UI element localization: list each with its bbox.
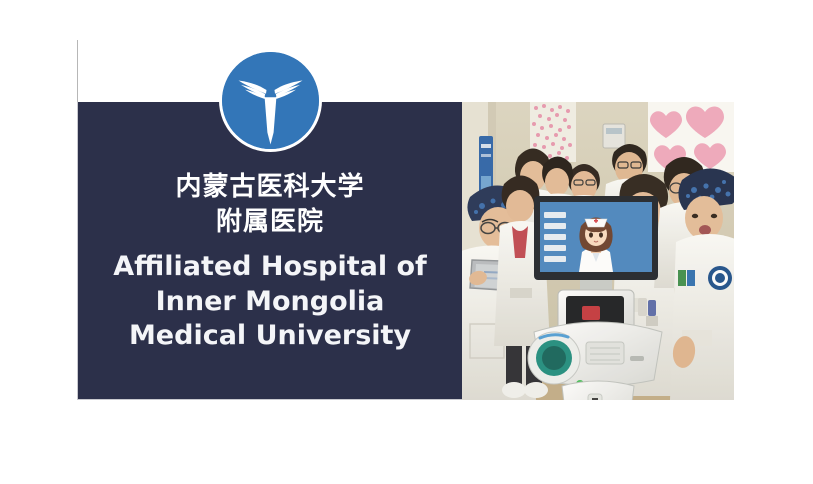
english-title-line-2: Inner Mongolia [77,285,463,320]
slide-canvas: 内蒙古医科大学 附属医院 Affiliated Hospital of Inne… [0,0,813,484]
hospital-emblem-icon [222,52,319,149]
hospital-robot-demo-photo: · [462,102,734,400]
chinese-title-line-2: 附属医院 [77,205,463,240]
english-title-line-1: Affiliated Hospital of [77,250,463,285]
title-text-block: 内蒙古医科大学 附属医院 Affiliated Hospital of Inne… [77,170,463,354]
english-title-line-3: Medical University [77,319,463,354]
chinese-title-line-1: 内蒙古医科大学 [77,170,463,205]
english-title-block: Affiliated Hospital of Inner Mongolia Me… [77,250,463,354]
left-vertical-rule [77,40,78,104]
